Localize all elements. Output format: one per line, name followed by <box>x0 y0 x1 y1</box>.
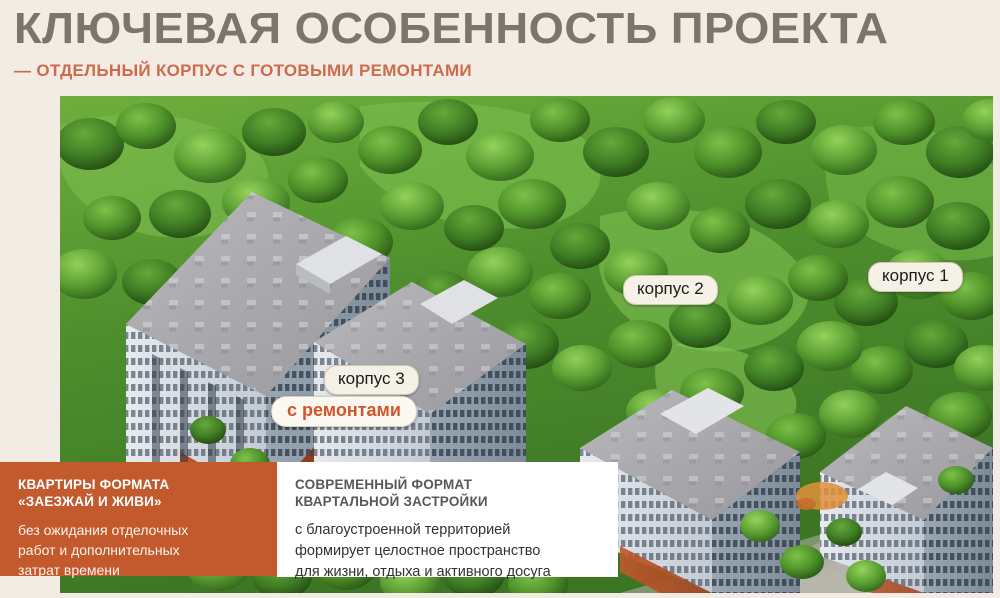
info-box-title-line-2: «ЗАЕЗЖАЙ И ЖИВИ» <box>18 493 259 510</box>
info-box-apartments-format: КВАРТИРЫ ФОРМАТА «ЗАЕЗЖАЙ И ЖИВИ» без ож… <box>0 462 277 576</box>
info-box-modern-quarter-format: СОВРЕМЕННЫЙ ФОРМАТ КВАРТАЛЬНОЙ ЗАСТРОЙКИ… <box>277 462 618 577</box>
building-label-korpus-3: корпус 3 <box>324 365 419 395</box>
info-box-body-line-3: для жизни, отдыха и активного досуга <box>295 562 618 583</box>
building-label-s-remontami: с ремонтами <box>271 396 417 427</box>
info-box-body-line-2: работ и дополнительных <box>18 540 259 560</box>
header: КЛЮЧЕВАЯ ОСОБЕННОСТЬ ПРОЕКТА — ОТДЕЛЬНЫЙ… <box>0 0 1000 97</box>
info-box-body-line-1: с благоустроенной территорией <box>295 520 618 541</box>
info-box-title: СОВРЕМЕННЫЙ ФОРМАТ КВАРТАЛЬНОЙ ЗАСТРОЙКИ <box>295 476 618 510</box>
info-box-body-line-3: затрат времени <box>18 560 259 580</box>
page-subtitle: — ОТДЕЛЬНЫЙ КОРПУС С ГОТОВЫМИ РЕМОНТАМИ <box>14 60 472 82</box>
info-box-body: с благоустроенной территорией формирует … <box>295 520 618 583</box>
info-box-title-line-1: СОВРЕМЕННЫЙ ФОРМАТ <box>295 476 618 493</box>
building-label-korpus-2: корпус 2 <box>623 275 718 305</box>
info-box-body: без ожидания отделочных работ и дополнит… <box>18 520 259 580</box>
info-box-body-line-1: без ожидания отделочных <box>18 520 259 540</box>
info-box-body-line-2: формирует целостное пространство <box>295 541 618 562</box>
info-box-title-line-1: КВАРТИРЫ ФОРМАТА <box>18 476 259 493</box>
page-title: КЛЮЧЕВАЯ ОСОБЕННОСТЬ ПРОЕКТА <box>14 4 889 54</box>
slide-root: КЛЮЧЕВАЯ ОСОБЕННОСТЬ ПРОЕКТА — ОТДЕЛЬНЫЙ… <box>0 0 1000 598</box>
info-box-title: КВАРТИРЫ ФОРМАТА «ЗАЕЗЖАЙ И ЖИВИ» <box>18 476 259 510</box>
info-box-title-line-2: КВАРТАЛЬНОЙ ЗАСТРОЙКИ <box>295 493 618 510</box>
building-label-korpus-1: корпус 1 <box>868 262 963 292</box>
